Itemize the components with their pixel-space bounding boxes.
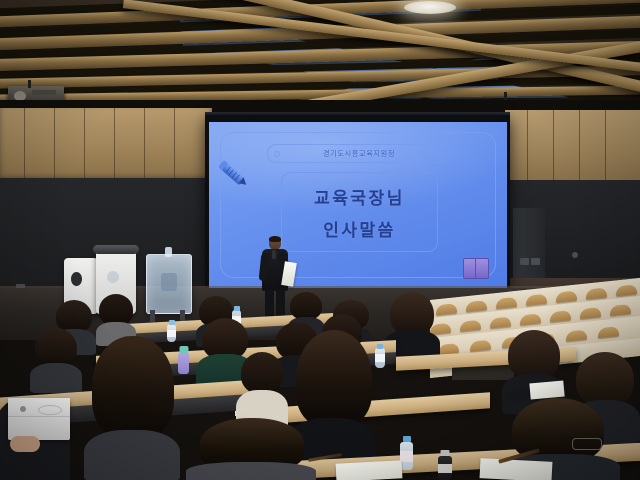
microphone — [272, 250, 276, 259]
audience-member — [236, 352, 288, 428]
water-bottle — [375, 344, 385, 368]
speaker-mount — [504, 92, 507, 100]
slide-title-line-2: 인사말씀 — [323, 216, 396, 241]
auditorium-photo: 경기도시흥교육지원청 교육국장님 인사말씀 — [0, 0, 640, 480]
audience-member — [30, 328, 82, 392]
audience-member — [84, 336, 180, 480]
white-gift-box — [8, 398, 70, 440]
slide-header-pill: 경기도시흥교육지원청 — [267, 144, 451, 163]
wall-panel-right — [505, 110, 640, 182]
ceiling-light — [404, 1, 456, 14]
slide-title-line-1: 교육국장님 — [314, 184, 405, 209]
acrylic-lectern — [146, 254, 192, 314]
eyeglasses — [572, 438, 602, 450]
paper-handout — [529, 381, 564, 400]
slide-title-box: 교육국장님 인사말씀 — [281, 172, 438, 252]
presenter — [258, 236, 292, 320]
paper-handout — [480, 458, 553, 480]
water-bottle — [400, 436, 413, 470]
audience-member — [186, 418, 316, 480]
open-book-icon — [463, 258, 489, 277]
paper-handout — [336, 460, 403, 480]
lectern-leg — [150, 310, 155, 322]
wall-panel-left — [0, 108, 212, 180]
water-bottle — [438, 450, 452, 480]
slide-header-text: 경기도시흥교육지원청 — [323, 149, 395, 159]
projector-mount — [28, 80, 31, 88]
hand — [10, 436, 40, 452]
presentation-slide: 경기도시흥교육지원청 교육국장님 인사말씀 — [209, 122, 507, 288]
